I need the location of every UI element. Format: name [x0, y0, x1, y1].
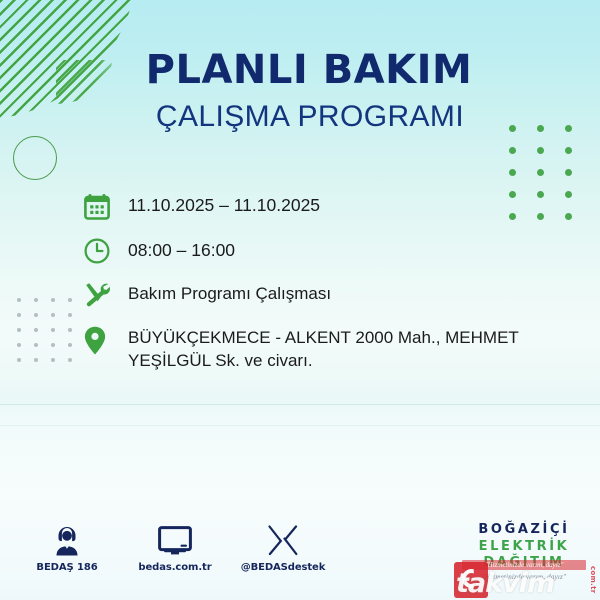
info-row-date: 11.10.2025 – 11.10.2025 — [84, 192, 564, 220]
dot — [34, 328, 38, 332]
dot — [51, 298, 55, 302]
dot — [565, 147, 572, 154]
brand-slogan: "Hizmetinizde varım, dayız" — [460, 573, 588, 581]
tools-icon — [84, 281, 128, 308]
dot — [537, 169, 544, 176]
info-work-type-value: Bakım Programı Çalışması — [128, 281, 331, 306]
info-row-time: 08:00 – 16:00 — [84, 237, 564, 264]
page-subtitle: ÇALIŞMA PROGRAMI — [20, 100, 600, 135]
planned-maintenance-poster: PLANLI BAKIM ÇALIŞMA PROGRAMI 11 — [0, 0, 600, 600]
location-pin-icon — [84, 325, 128, 355]
dot — [17, 298, 21, 302]
circle-outline-decoration — [13, 136, 57, 180]
dot — [68, 328, 72, 332]
calendar-icon — [84, 192, 128, 220]
clock-icon — [84, 237, 128, 264]
dot — [509, 147, 516, 154]
brand-line-dagitim: DAĞITIM — [460, 555, 588, 572]
dot-grid-left-decoration — [10, 292, 78, 367]
dot — [17, 358, 21, 362]
dot — [34, 298, 38, 302]
info-row-work-type: Bakım Programı Çalışması — [84, 281, 564, 308]
dot — [17, 343, 21, 347]
dot — [34, 313, 38, 317]
dot — [51, 358, 55, 362]
dot — [34, 343, 38, 347]
contact-label-website: bedas.com.tr — [132, 562, 218, 573]
dot — [68, 313, 72, 317]
maintenance-info-list: 11.10.2025 – 11.10.2025 08:00 – 16:00 — [84, 192, 564, 390]
contact-item-social[interactable]: @BEDASdestek — [240, 520, 326, 573]
dot — [68, 298, 72, 302]
dot — [51, 328, 55, 332]
background-band-line — [0, 404, 600, 405]
contact-item-website[interactable]: bedas.com.tr — [132, 520, 218, 573]
dot — [68, 358, 72, 362]
info-row-address: BÜYÜKÇEKMECE - ALKENT 2000 Mah., MEHMET … — [84, 325, 564, 373]
contact-channels: BEDAŞ 186 bedas.com.tr — [24, 520, 326, 573]
page-title: PLANLI BAKIM — [18, 50, 600, 90]
dot — [51, 343, 55, 347]
dot — [17, 313, 21, 317]
contact-label-social: @BEDASdestek — [240, 562, 326, 573]
dot — [17, 328, 21, 332]
dot — [34, 358, 38, 362]
page-title-block: PLANLI BAKIM ÇALIŞMA PROGRAMI — [0, 50, 600, 135]
x-twitter-icon — [240, 520, 326, 556]
watermark-tld: com.tr — [589, 566, 596, 594]
contact-item-phone[interactable]: BEDAŞ 186 — [24, 520, 110, 573]
monitor-icon — [132, 520, 218, 556]
footer: BEDAŞ 186 bedas.com.tr — [0, 508, 600, 600]
call-center-agent-icon — [24, 520, 110, 556]
bedas-brand-logo: BOĞAZİÇİ ELEKTRİK DAĞITIM "Hizmetinizde … — [460, 522, 588, 581]
brand-line-bogazici: BOĞAZİÇİ — [460, 522, 588, 539]
brand-line-elektrik: ELEKTRİK — [460, 539, 588, 556]
dot — [565, 169, 572, 176]
dot — [565, 213, 572, 220]
dot — [537, 147, 544, 154]
background-band-line-secondary — [0, 425, 600, 426]
dot — [509, 169, 516, 176]
dot — [68, 343, 72, 347]
dot — [51, 313, 55, 317]
contact-label-phone: BEDAŞ 186 — [24, 562, 110, 573]
info-time-value: 08:00 – 16:00 — [128, 237, 235, 262]
info-date-value: 11.10.2025 – 11.10.2025 — [128, 192, 320, 217]
info-address-value: BÜYÜKÇEKMECE - ALKENT 2000 Mah., MEHMET … — [128, 325, 564, 373]
dot — [565, 191, 572, 198]
